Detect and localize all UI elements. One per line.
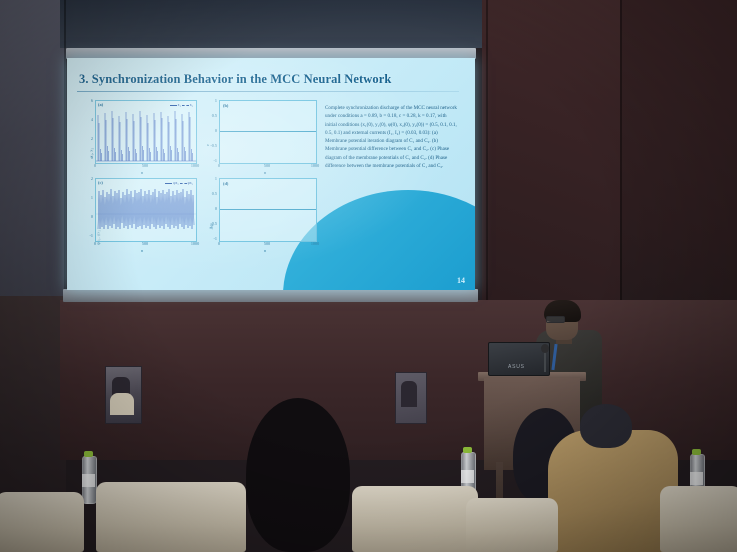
chart-c-ytick-2: 1 (83, 195, 93, 200)
chart-b-ytick-3: -0.5 (207, 143, 217, 148)
screen-bottom-bar (63, 289, 478, 302)
wall-seam-right (486, 0, 488, 300)
title-divider (77, 91, 459, 92)
chart-c-xtick-2: 1000 (188, 241, 202, 246)
chart-d-ytick-0: 1 (207, 176, 217, 181)
chart-c-xtick-1: 500 (139, 241, 151, 246)
chart-c-ytick-0: -1 (83, 233, 93, 238)
wall-mirror-left (105, 366, 142, 424)
chart-d-plot-area: (d) (219, 178, 317, 242)
chart-a-xtick-2: 1000 (188, 163, 202, 168)
conference-room-photo: 3. Synchronization Behavior in the MCC N… (0, 0, 737, 552)
chart-d-xtick-0: 0 (213, 241, 225, 246)
mirror-reflection-figure-2 (401, 381, 417, 407)
microphone-stem (544, 352, 546, 372)
chart-c-ytick-1: 0 (83, 214, 93, 219)
seat-row-3 (352, 486, 478, 552)
wall-right-far (620, 0, 737, 320)
chart-a-xtick-0: 0 (89, 163, 101, 168)
chart-c-series-svg (96, 179, 196, 241)
presentation-slide: 3. Synchronization Behavior in the MCC N… (67, 58, 475, 290)
chart-a-ytick-1: 2 (83, 136, 93, 141)
audience-head-foreground-center (246, 398, 350, 552)
chart-d-xlabel: n (264, 248, 266, 253)
chart-panel-b: e 1 0.5 0 -0.5 -1 (b) 0 500 1000 n (207, 100, 319, 178)
seat-row-4 (466, 498, 558, 552)
chart-b-ytick-2: 0 (207, 128, 217, 133)
chart-b-xtick-1: 500 (261, 163, 273, 168)
wall-back (60, 0, 490, 48)
chart-panel-d: Δφ 1 0.5 0 -0.5 -1 (d) 0 500 1000 n (207, 178, 319, 256)
slide-caption: Complete synchronization discharge of th… (325, 104, 459, 170)
microphone-icon (541, 344, 549, 353)
chart-panel-a: x₁, x₂ 6 4 2 0 (a) x₁ x₂ (81, 100, 199, 178)
chart-b-ytick-0: 1 (207, 98, 217, 103)
water-bottle-label-left (82, 474, 95, 487)
chart-c-ytick-3: 2 (83, 176, 93, 181)
chart-a-ytick-3: 6 (83, 98, 93, 103)
wall-mirror-right (395, 372, 427, 424)
seat-row-5 (660, 486, 737, 552)
chart-d-zero-series (220, 209, 316, 210)
chart-d-xtick-1: 500 (261, 241, 273, 246)
projection-screen: 3. Synchronization Behavior in the MCC N… (58, 48, 486, 303)
water-bottle-label-center (461, 470, 474, 483)
chart-d-ytick-1: 0.5 (207, 191, 217, 196)
chart-a-series-svg (96, 101, 196, 163)
chart-b-xlabel: n (264, 170, 266, 175)
seat-row-1 (0, 492, 84, 552)
chart-b-xtick-2: 1000 (308, 163, 322, 168)
water-bottle-label-right (690, 472, 703, 485)
chart-d-ytick-2: 0 (207, 206, 217, 211)
chart-c-xtick-0: 0 (89, 241, 101, 246)
seat-row-2 (96, 482, 246, 552)
laptop-brand-label: ASUS (508, 364, 525, 370)
water-bottle-cap-right (692, 449, 701, 455)
chart-d-ytick-3: -0.5 (207, 221, 217, 226)
slide-title: 3. Synchronization Behavior in the MCC N… (79, 72, 391, 87)
audience-head-cap (580, 404, 632, 448)
wall-left-upper (0, 0, 66, 300)
chart-b-ytick-1: 0.5 (207, 113, 217, 118)
chart-a-xtick-1: 500 (139, 163, 151, 168)
chart-d-panel-id: (d) (223, 181, 228, 186)
chart-a-ytick-0: 0 (83, 155, 93, 160)
chart-b-zero-series (220, 131, 316, 132)
chart-c-plot-area: (c) φx₁ φx₂ (95, 178, 197, 242)
chart-c-xlabel: n (141, 248, 143, 253)
chart-panel-c: φx₁, φx₂ 2 1 0 -1 (c) φx₁ φx₂ (81, 178, 199, 256)
mirror-reflection-seat (110, 393, 134, 415)
chart-b-plot-area: (b) (219, 100, 317, 164)
audience-person-tan-jacket (548, 430, 678, 552)
chart-d-xtick-2: 1000 (308, 241, 322, 246)
water-bottle-cap-center (463, 447, 472, 453)
chart-a-ytick-2: 4 (83, 117, 93, 122)
glasses-icon (546, 316, 565, 323)
slide-page-number: 14 (457, 276, 465, 285)
chart-a-xlabel: n (141, 170, 143, 175)
chart-b-panel-id: (b) (223, 103, 228, 108)
chart-a-plot-area: (a) x₁ x₂ (95, 100, 197, 164)
wall-seam-far (620, 0, 622, 300)
chart-b-xtick-0: 0 (213, 163, 225, 168)
water-bottle-cap-left (84, 451, 93, 457)
